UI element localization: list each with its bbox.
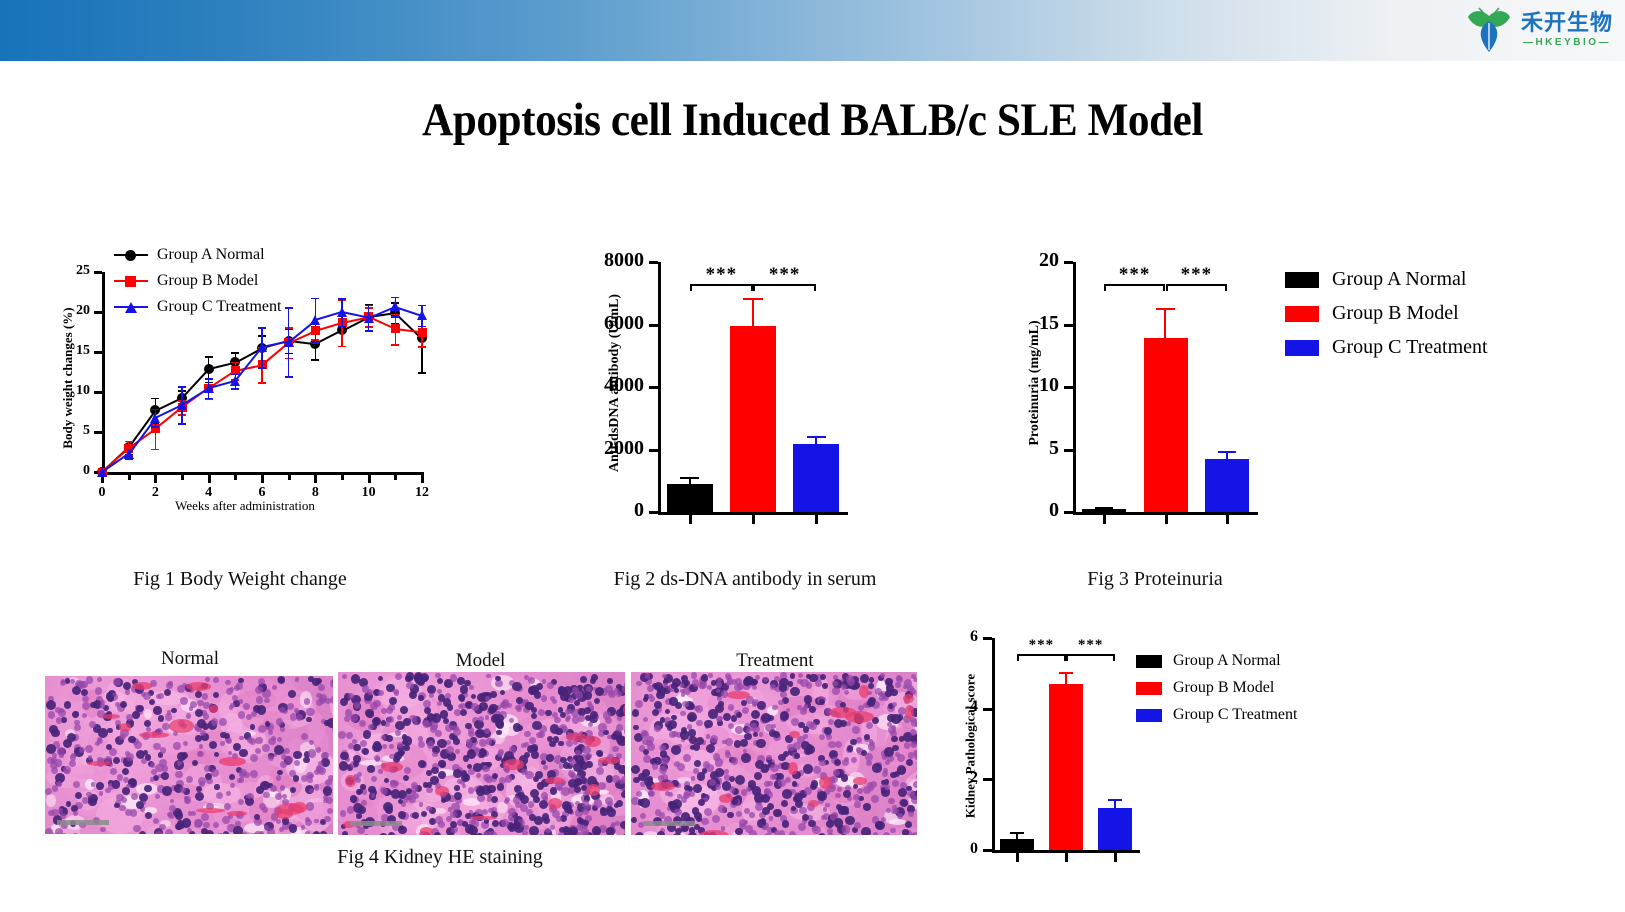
fig2-plot-x-tick xyxy=(815,515,818,524)
he3-nucleus xyxy=(890,689,897,696)
he1-nucleus xyxy=(308,749,316,757)
he2-nucleus xyxy=(534,816,543,825)
he2-nucleus xyxy=(545,710,551,716)
he2-nucleus xyxy=(614,688,619,693)
he1-nucleus xyxy=(308,676,314,682)
he3-nucleus xyxy=(868,683,874,689)
he2-nucleus xyxy=(476,787,485,796)
he1-erythrocyte xyxy=(139,732,169,738)
fig1-x-tick xyxy=(261,475,264,483)
he2-nucleus xyxy=(586,761,593,768)
fig1-x-tick xyxy=(128,475,131,480)
he2-nucleus xyxy=(362,685,369,692)
he2-nucleus xyxy=(620,821,625,829)
he3-nucleus xyxy=(888,798,895,805)
he2-nucleus xyxy=(563,762,570,769)
fig2-plot-y-tick xyxy=(649,261,658,264)
fig1-y-tick xyxy=(94,391,102,394)
fig3-plot-y-tick xyxy=(1064,511,1073,514)
he2-nucleus xyxy=(568,770,575,777)
he2-nucleus xyxy=(468,826,477,835)
he3-erythrocyte xyxy=(903,694,914,704)
he1-nucleus xyxy=(107,728,112,733)
he1-erythrocyte xyxy=(169,719,194,733)
he3-nucleus xyxy=(755,675,760,680)
he1-nucleus xyxy=(320,833,327,834)
he3-nucleus xyxy=(729,776,735,782)
fig3-plot-y-tick-label: 20 xyxy=(1039,249,1059,272)
fig1-y-tick-label: 15 xyxy=(76,343,90,359)
fig1-error-cap xyxy=(231,362,239,364)
he1-nucleus xyxy=(236,682,243,689)
figure-1-line-chart: Body weight changes (%) Weeks after admi… xyxy=(40,240,440,530)
he3-nucleus xyxy=(706,734,711,739)
he3-nucleus xyxy=(704,808,712,816)
he2-nucleus xyxy=(367,765,374,772)
fig1-x-tick-label: 0 xyxy=(90,485,114,501)
he1-nucleus xyxy=(278,677,284,683)
he2-nucleus xyxy=(435,816,443,824)
he3-nucleus xyxy=(885,760,890,765)
he2-nucleus xyxy=(418,695,423,700)
he1-nucleus xyxy=(290,787,296,793)
fig5-legend-swatch-a xyxy=(1136,655,1162,668)
he2-erythrocyte xyxy=(435,786,448,796)
fig1-error-cap xyxy=(205,398,213,400)
he3-nucleus xyxy=(846,721,851,726)
he2-erythrocyte xyxy=(566,733,587,741)
fig1-x-tick xyxy=(394,475,397,480)
fig5-plot-y-tick xyxy=(983,637,992,640)
he3-nucleus xyxy=(728,723,734,729)
he2-erythrocyte xyxy=(545,777,564,784)
he3-nucleus xyxy=(913,750,917,757)
he3-nucleus xyxy=(782,820,789,827)
fig1-marker-triangle xyxy=(204,383,214,393)
he2-nucleus xyxy=(532,721,542,731)
he2-nucleus xyxy=(585,715,591,721)
fig2-plot-y-tick xyxy=(649,449,658,452)
he1-nucleus xyxy=(48,711,55,718)
he3-nucleus xyxy=(727,678,734,685)
he2-erythrocyte xyxy=(420,827,433,835)
fig1-error-cap xyxy=(418,346,426,348)
he2-nucleus xyxy=(383,802,393,812)
he1-nucleus xyxy=(301,825,306,830)
he1-nucleus xyxy=(305,831,310,834)
fig1-error-cap xyxy=(205,378,213,380)
he1-nucleus xyxy=(165,829,173,834)
he3-nucleus xyxy=(890,828,895,833)
he1-nucleus xyxy=(82,696,89,703)
he1-nucleus xyxy=(153,706,161,714)
fig3-plot-x-tick xyxy=(1103,515,1106,524)
he3-nucleus xyxy=(832,681,837,686)
he2-nucleus xyxy=(342,831,348,835)
he3-nucleus xyxy=(854,822,861,829)
he2-nucleus xyxy=(426,787,432,793)
fig1-error-cap xyxy=(258,367,266,369)
he1-nucleus xyxy=(268,730,273,735)
fig5-legend-item-b: Group B Model xyxy=(1136,679,1297,697)
he1-nucleus xyxy=(69,760,76,767)
he2-nucleus xyxy=(531,713,537,719)
he2-nucleus xyxy=(427,713,434,720)
he2-nucleus xyxy=(624,682,625,687)
he3-nucleus xyxy=(869,677,874,682)
he3-nucleus xyxy=(782,789,792,799)
he2-nucleus xyxy=(616,735,625,744)
he2-nucleus xyxy=(505,797,510,802)
fig2-plot-significance-stars: *** xyxy=(753,264,816,286)
he3-nucleus xyxy=(787,744,795,752)
he2-nucleus xyxy=(441,798,446,803)
he2-nucleus xyxy=(546,834,555,835)
he1-nucleus xyxy=(254,831,261,834)
he2-nucleus xyxy=(483,832,488,835)
he3-nucleus xyxy=(809,674,817,682)
he3-nucleus xyxy=(860,674,869,683)
he2-nucleus xyxy=(491,796,498,803)
he2-nucleus xyxy=(582,800,590,808)
he3-nucleus xyxy=(834,818,844,828)
he3-nucleus xyxy=(722,740,726,744)
he3-nucleus xyxy=(804,787,812,795)
he3-nucleus xyxy=(706,744,715,753)
fig5-plot-y-tick xyxy=(983,708,992,711)
he3-nucleus xyxy=(643,717,648,722)
he1-nucleus xyxy=(73,781,80,788)
he1-nucleus xyxy=(247,794,252,799)
he2-nucleus xyxy=(495,676,500,681)
he3-nucleus xyxy=(794,753,800,759)
he2-nucleus xyxy=(536,732,542,738)
he1-nucleus xyxy=(293,751,301,759)
he3-nucleus xyxy=(671,745,681,755)
fig1-x-tick xyxy=(341,475,344,480)
he1-nucleus xyxy=(255,737,263,745)
he1-nucleus xyxy=(74,720,79,725)
he2-nucleus xyxy=(581,785,587,791)
he1-nucleus xyxy=(61,717,66,722)
he3-nucleus xyxy=(857,788,863,794)
he2-nucleus xyxy=(391,834,396,835)
he3-nucleus xyxy=(708,673,713,678)
he2-nucleus xyxy=(411,782,418,789)
he2-nucleus xyxy=(394,781,399,786)
he2-nucleus xyxy=(464,680,471,687)
he2-nucleus xyxy=(529,737,536,744)
he1-nucleus xyxy=(107,694,115,702)
he1-nucleus xyxy=(233,826,242,834)
he3-nucleus xyxy=(769,816,774,821)
fig1-error-cap xyxy=(365,305,373,307)
fig2-plot-bar xyxy=(793,444,839,512)
he3-nucleus xyxy=(648,694,653,699)
he3-nucleus xyxy=(735,828,742,835)
he1-nucleus xyxy=(289,824,297,832)
he2-nucleus xyxy=(500,702,505,707)
he2-nucleus xyxy=(538,709,545,716)
fig1-error-cap xyxy=(338,326,346,328)
he3-nucleus xyxy=(902,829,908,835)
he3-erythrocyte xyxy=(905,705,913,718)
fig1-x-tick-label: 2 xyxy=(143,485,167,501)
fig3-plot-y-tick-label: 10 xyxy=(1039,374,1059,397)
he3-nucleus xyxy=(797,679,803,685)
he3-nucleus xyxy=(734,684,742,692)
fig3-legend-item-c: Group C Treatment xyxy=(1285,336,1488,359)
fig5-plot-bar xyxy=(1000,839,1034,850)
he1-nucleus xyxy=(187,828,192,833)
he2-nucleus xyxy=(362,748,369,755)
he2-nucleus xyxy=(368,786,376,794)
he3-nucleus xyxy=(871,795,879,803)
he1-nucleus xyxy=(232,695,238,701)
he3-nucleus xyxy=(780,711,789,720)
fig1-legend-label-a: Group A Normal xyxy=(157,246,265,264)
he2-nucleus xyxy=(363,730,371,738)
he2-nucleus xyxy=(594,799,602,807)
he3-nucleus xyxy=(752,685,758,691)
he3-nucleus xyxy=(736,811,742,817)
he2-nucleus xyxy=(365,709,373,717)
he1-nucleus xyxy=(247,737,252,742)
fig1-marker-square xyxy=(391,324,400,333)
he2-nucleus xyxy=(497,783,504,790)
he3-nucleus xyxy=(790,673,795,678)
he1-nucleus xyxy=(155,831,163,834)
he3-nucleus xyxy=(756,739,766,749)
figure-1-caption: Fig 1 Body Weight change xyxy=(40,568,440,591)
he3-nucleus xyxy=(680,689,684,693)
fig1-error-cap xyxy=(125,441,133,443)
logo-cn-text: 禾开生物 xyxy=(1521,13,1613,35)
fig1-x-tick xyxy=(314,475,317,483)
he1-erythrocyte xyxy=(219,757,245,766)
fig3-plot-bar xyxy=(1205,459,1249,512)
he2-nucleus xyxy=(454,785,459,790)
he1-nucleus xyxy=(268,755,274,761)
he3-nucleus xyxy=(764,781,769,786)
he1-nucleus xyxy=(328,775,333,781)
fig1-y-tick xyxy=(94,311,102,314)
fig1-legend-symbol-circle xyxy=(114,249,148,261)
he1-nucleus xyxy=(326,797,332,803)
he2-nucleus xyxy=(541,695,548,702)
he2-erythrocyte xyxy=(381,762,403,772)
he1-nucleus xyxy=(98,728,108,738)
he1-nucleus xyxy=(126,784,130,788)
he1-nucleus xyxy=(213,692,219,698)
fig5-plot-bar xyxy=(1049,684,1083,850)
he3-nucleus xyxy=(633,725,638,730)
he2-nucleus xyxy=(486,674,491,679)
he3-nucleus xyxy=(863,803,870,810)
he1-erythrocyte xyxy=(186,682,211,691)
he2-nucleus xyxy=(378,676,383,681)
he2-nucleus xyxy=(437,739,446,748)
he3-nucleus xyxy=(804,695,812,703)
fig2-plot-y-tick-label: 6000 xyxy=(604,312,644,335)
he3-nucleus xyxy=(880,673,885,678)
he2-nucleus xyxy=(350,714,358,722)
he2-nucleus xyxy=(543,765,548,770)
he1-nucleus xyxy=(276,718,284,726)
he3-nucleus xyxy=(847,745,853,751)
fig1-error-cap xyxy=(391,316,399,318)
he1-nucleus xyxy=(287,703,294,710)
he3-nucleus xyxy=(749,812,754,817)
he3-nucleus xyxy=(683,754,691,762)
he2-nucleus xyxy=(487,785,496,794)
he1-nucleus xyxy=(125,689,131,695)
fig3-plot-y-tick xyxy=(1064,324,1073,327)
he3-nucleus xyxy=(819,760,826,767)
fig1-legend-item-a: Group A Normal xyxy=(114,246,281,264)
he3-nucleus xyxy=(813,766,821,774)
he1-scale-bar xyxy=(57,820,109,825)
he1-nucleus xyxy=(223,833,228,834)
he2-nucleus xyxy=(438,771,446,779)
he2-nucleus xyxy=(426,782,432,788)
fig3-plot-bar xyxy=(1144,338,1188,512)
he1-nucleus xyxy=(203,713,210,720)
he1-nucleus xyxy=(330,696,333,704)
he1-nucleus xyxy=(295,677,300,682)
he2-nucleus xyxy=(489,831,496,835)
he3-nucleus xyxy=(887,714,895,722)
he2-nucleus xyxy=(356,813,362,819)
he2-nucleus xyxy=(386,735,393,742)
he1-nucleus xyxy=(112,780,121,789)
fig2-plot-error-bar xyxy=(680,477,699,484)
fig1-error-cap xyxy=(178,386,186,388)
he2-nucleus xyxy=(531,751,539,759)
fig1-y-tick-label: 20 xyxy=(76,303,90,319)
fig5-plot-error-bar xyxy=(1059,672,1073,684)
he1-nucleus xyxy=(131,793,138,800)
he3-nucleus xyxy=(735,775,745,785)
fig5-plot-error-bar xyxy=(1010,832,1024,839)
he2-nucleus xyxy=(434,832,441,835)
he1-nucleus xyxy=(324,816,331,823)
he2-nucleus xyxy=(406,682,414,690)
fig1-plot-area: 0510152025024681012 xyxy=(102,272,422,472)
he3-nucleus xyxy=(765,724,773,732)
he2-nucleus xyxy=(512,682,522,692)
he2-nucleus xyxy=(580,676,587,683)
fig3-plot-y-tick xyxy=(1064,449,1073,452)
he3-nucleus xyxy=(741,753,751,763)
he2-nucleus xyxy=(478,716,484,722)
he2-nucleus xyxy=(398,826,407,835)
he3-nucleus xyxy=(866,722,873,729)
he1-nucleus xyxy=(330,679,333,687)
he3-nucleus xyxy=(755,760,764,769)
he1-nucleus xyxy=(202,723,209,730)
he2-nucleus xyxy=(612,775,620,783)
he3-nucleus xyxy=(822,683,828,689)
he2-nucleus xyxy=(578,715,584,721)
he1-nucleus xyxy=(316,747,322,753)
fig1-error-cap xyxy=(151,398,159,400)
he1-nucleus xyxy=(75,792,82,799)
figure-5-bar-chart: Kidney Pathological score 0246****** xyxy=(930,620,1140,870)
he1-nucleus xyxy=(184,796,191,803)
fig1-y-axis-label: Body weight changes (%) xyxy=(60,288,76,468)
fig1-error-cap xyxy=(231,388,239,390)
he1-nucleus xyxy=(133,825,141,833)
he3-nucleus xyxy=(752,701,757,706)
he1-nucleus xyxy=(167,812,172,817)
he3-nucleus xyxy=(837,787,842,792)
he1-nucleus xyxy=(264,698,269,703)
he1-nucleus xyxy=(255,686,263,694)
he3-nucleus xyxy=(873,832,878,835)
he3-nucleus xyxy=(891,736,897,742)
he1-nucleus xyxy=(213,677,219,683)
he3-lumen xyxy=(889,819,906,825)
he1-nucleus xyxy=(306,708,314,716)
figure-3-caption: Fig 3 Proteinuria xyxy=(1010,568,1300,591)
he2-nucleus xyxy=(554,717,561,724)
he3-nucleus xyxy=(757,701,765,709)
he2-nucleus xyxy=(538,834,545,835)
he2-nucleus xyxy=(550,724,559,733)
fig3-plot-area: 05101520****** xyxy=(1073,262,1258,512)
he2-nucleus xyxy=(340,752,349,761)
he1-nucleus xyxy=(50,762,58,770)
he1-nucleus xyxy=(123,682,131,690)
he1-nucleus xyxy=(314,819,319,824)
he1-nucleus xyxy=(114,803,120,809)
fig5-plot-y-tick-label: 0 xyxy=(970,840,978,858)
he1-nucleus xyxy=(64,769,69,774)
he3-nucleus xyxy=(789,831,797,835)
he1-nucleus xyxy=(150,777,155,782)
he2-nucleus xyxy=(389,697,397,705)
fig1-x-tick-label: 12 xyxy=(410,485,434,501)
he2-nucleus xyxy=(624,769,625,777)
fig1-error-cap xyxy=(418,326,426,328)
he2-nucleus xyxy=(435,730,442,737)
he1-nucleus xyxy=(203,822,209,828)
he3-nucleus xyxy=(778,700,784,706)
he3-nucleus xyxy=(694,760,701,767)
he1-nucleus xyxy=(55,707,61,713)
he2-nucleus xyxy=(360,784,365,789)
he2-nucleus xyxy=(534,691,542,699)
he3-nucleus xyxy=(728,704,735,711)
fig5-plot-x-tick xyxy=(1016,853,1019,862)
he2-nucleus xyxy=(515,705,520,710)
he1-nucleus xyxy=(132,711,140,719)
he1-nucleus xyxy=(239,749,247,757)
he3-nucleus xyxy=(727,812,733,818)
he3-nucleus xyxy=(740,739,748,747)
fig1-marker-triangle xyxy=(177,400,187,410)
fig3-plot-y-tick xyxy=(1064,386,1073,389)
fig1-x-tick xyxy=(154,475,157,483)
he2-nucleus xyxy=(418,760,426,768)
he1-lumen xyxy=(144,709,151,719)
he2-nucleus xyxy=(427,741,435,749)
fig1-x-tick xyxy=(208,475,211,483)
he2-nucleus xyxy=(471,703,479,711)
he1-nucleus xyxy=(57,781,62,786)
he1-nucleus xyxy=(72,711,79,718)
